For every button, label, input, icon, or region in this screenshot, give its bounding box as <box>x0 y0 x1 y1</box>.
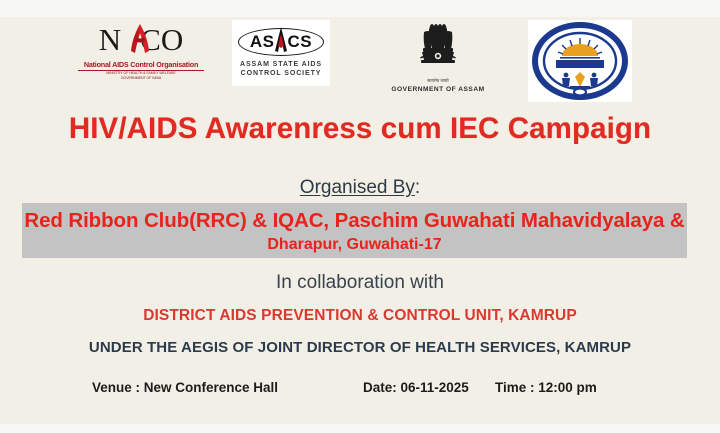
college-seal-logo <box>528 20 632 102</box>
organiser-highlight-band: Red Ribbon Club(RRC) & IQAC, Paschim Guw… <box>22 203 687 258</box>
organised-by-label: Organised By <box>300 177 415 198</box>
poster-title: HIV/AIDS Awarenress cum IEC Campaign <box>0 112 720 146</box>
poster-canvas: NCO National AIDS Control Organisation M… <box>0 0 720 433</box>
aegis-line: UNDER THE AEGIS OF JOINT DIRECTOR OF HEA… <box>0 339 720 356</box>
ashoka-motto: सत्यमेव जयते <box>388 78 488 84</box>
asacs-subtitle-line-2: CONTROL SOCIETY <box>232 69 330 78</box>
bottom-edge-strip <box>0 424 720 433</box>
paschim-guwahati-mahavidyalaya-seal-icon <box>528 20 632 102</box>
naco-fine-print-2: GOVERNMENT OF INDIA <box>78 76 204 80</box>
asacs-ribbon-icon <box>273 25 289 55</box>
date-label: Date: 06-11-2025 <box>363 380 469 395</box>
venue-label: Venue : New Conference Hall <box>92 380 278 395</box>
organised-by-colon: : <box>415 177 420 198</box>
organised-by-heading: Organised By: <box>0 177 720 199</box>
collaboration-heading: In collaboration with <box>0 272 720 294</box>
naco-fine-print-1: MINISTRY OF HEALTH & FAMILY WELFARE <box>78 71 204 75</box>
event-details-row: Venue : New Conference Hall Date: 06-11-… <box>0 380 720 402</box>
government-of-assam-caption: GOVERNMENT OF ASSAM <box>388 86 488 93</box>
naco-subtitle: National AIDS Control Organisation <box>78 60 204 71</box>
time-label: Time : 12:00 pm <box>495 380 597 395</box>
top-edge-strip <box>0 0 720 17</box>
red-ribbon-icon <box>127 21 153 61</box>
district-unit-line: DISTRICT AIDS PREVENTION & CONTROL UNIT,… <box>0 307 720 325</box>
organiser-line-1: Red Ribbon Club(RRC) & IQAC, Paschim Guw… <box>22 207 687 234</box>
naco-wordmark: NCO <box>78 20 204 60</box>
ashoka-lion-capital-icon <box>410 20 466 78</box>
organiser-line-2: Dharapur, Guwahati-17 <box>22 234 687 255</box>
asacs-oval-frame: ASCS <box>238 28 324 56</box>
naco-logo: NCO National AIDS Control Organisation M… <box>78 20 204 102</box>
asacs-wordmark-right: CS <box>288 32 313 51</box>
government-of-assam-logo: सत्यमेव जयते GOVERNMENT OF ASSAM <box>388 20 488 100</box>
naco-wordmark-left: N <box>99 22 121 57</box>
asacs-logo: ASCS ASSAM STATE AIDS CONTROL SOCIETY <box>232 20 330 86</box>
logo-row: NCO National AIDS Control Organisation M… <box>0 20 720 105</box>
asacs-wordmark-left: AS <box>250 32 275 51</box>
asacs-subtitle-line-1: ASSAM STATE AIDS <box>232 60 330 69</box>
